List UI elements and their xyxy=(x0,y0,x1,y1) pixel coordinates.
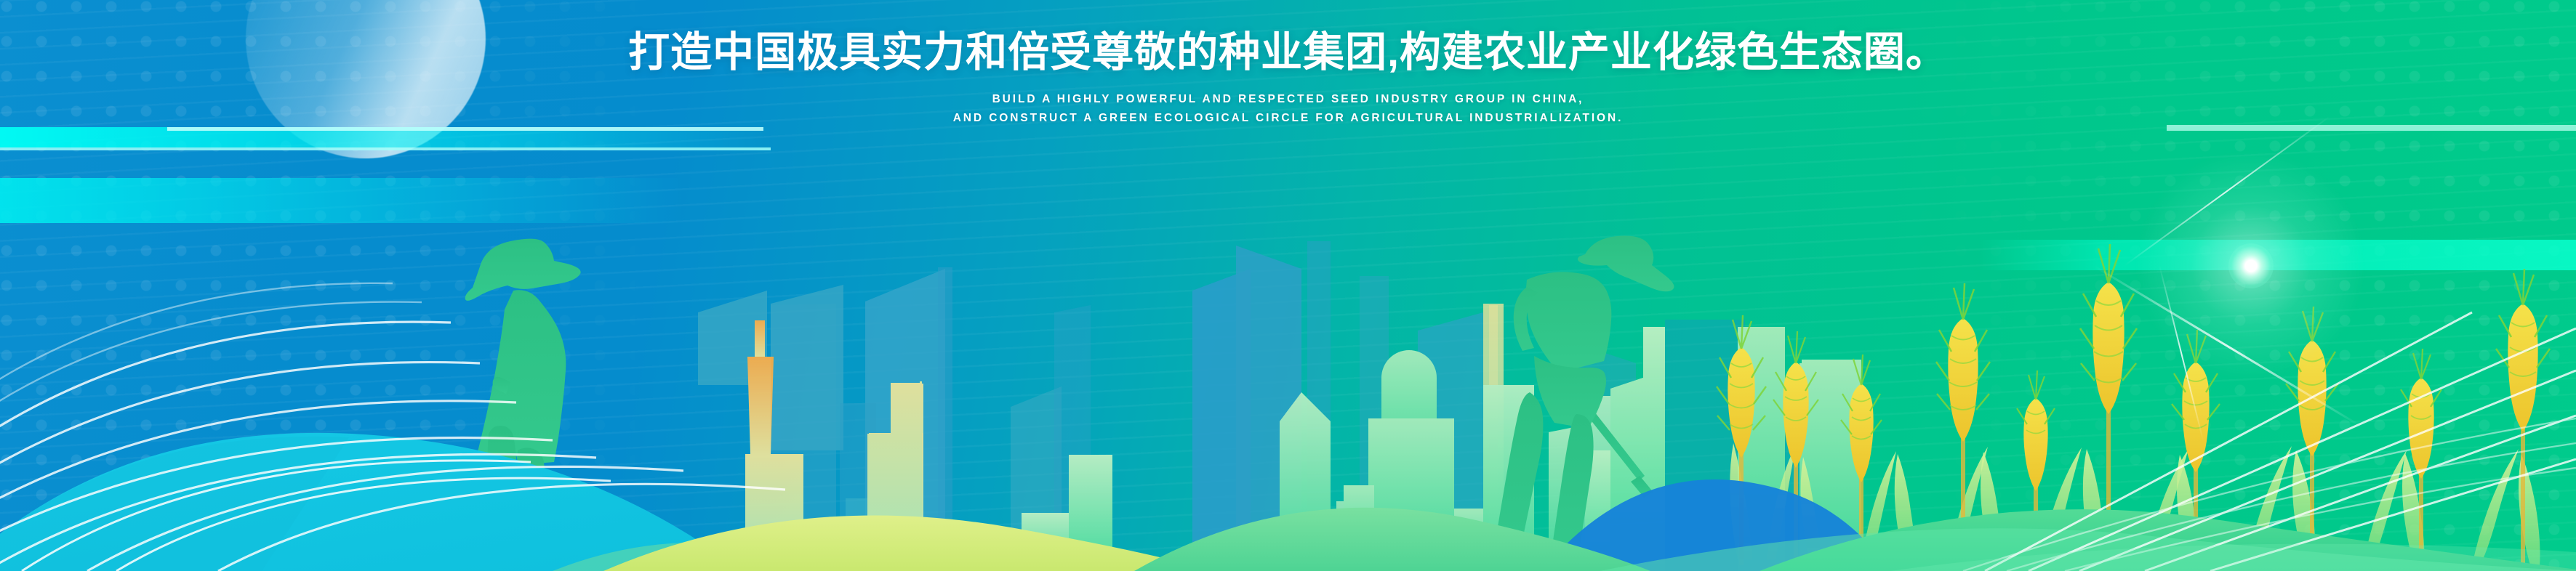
lens-flare-core xyxy=(2228,243,2274,288)
hero-banner: 打造中国极具实力和倍受尊敬的种业集团,构建农业产业化绿色生态圈。 BUILD A… xyxy=(0,0,2576,571)
